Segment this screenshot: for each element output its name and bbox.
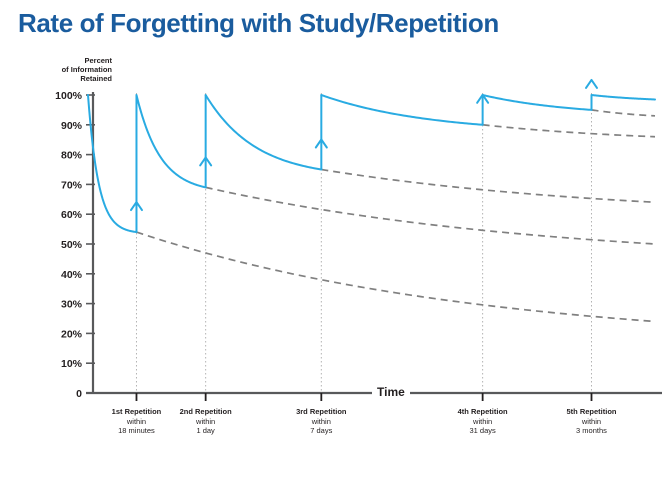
x-tick-label-interval: 3 months — [531, 426, 651, 436]
y-tick-label: 20% — [61, 328, 83, 340]
retention-curve-with-repetition — [88, 95, 655, 232]
x-tick-label: 5th Repetitionwithin3 months — [531, 407, 651, 436]
x-tick-label-repetition: 3rd Repetition — [261, 407, 381, 417]
forgetting-curves-without-repetition — [136, 110, 655, 322]
repetition-arrows — [131, 80, 597, 210]
y-tick-label: 70% — [61, 179, 83, 191]
retention-decay-segment — [206, 95, 322, 170]
x-axis-tick-marks — [136, 393, 591, 401]
x-tick-label: 3rd Repetitionwithin7 days — [261, 407, 381, 436]
dashed-forgetting-curve — [136, 232, 655, 321]
y-tick-label: 50% — [61, 239, 83, 251]
y-tick-label: 60% — [61, 209, 83, 221]
y-tick-label: 30% — [61, 299, 83, 311]
x-tick-label-within: within — [531, 417, 651, 427]
y-tick-label: 90% — [61, 120, 83, 132]
x-tick-label-repetition: 4th Repetition — [423, 407, 543, 417]
dashed-forgetting-curve — [206, 187, 655, 244]
dashed-forgetting-curve — [483, 125, 655, 137]
y-tick-label: 100% — [55, 90, 83, 102]
x-tick-label-interval: 1 day — [146, 426, 266, 436]
retention-decay-segment — [88, 95, 136, 232]
chart-axes — [86, 92, 662, 393]
x-axis-title: Time — [372, 385, 410, 399]
dashed-forgetting-curve — [592, 110, 656, 116]
x-tick-label: 2nd Repetitionwithin1 day — [146, 407, 266, 436]
x-tick-label-within: within — [423, 417, 543, 427]
retention-decay-segment — [321, 95, 482, 125]
y-tick-label: 40% — [61, 269, 83, 281]
dashed-forgetting-curve — [321, 170, 655, 203]
x-tick-label: 4th Repetitionwithin31 days — [423, 407, 543, 436]
repetition-arrow-icon — [586, 80, 597, 88]
y-tick-label: 10% — [61, 358, 83, 370]
x-tick-label-within: within — [146, 417, 266, 427]
retention-decay-segment — [136, 95, 205, 187]
x-tick-label-within: within — [261, 417, 381, 427]
retention-decay-segment — [483, 95, 592, 110]
x-tick-label-repetition: 5th Repetition — [531, 407, 651, 417]
y-axis-tick-labels: 100%90%80%70%60%50%40%30%20%10%0 — [55, 90, 83, 400]
x-tick-label-interval: 31 days — [423, 426, 543, 436]
y-tick-label: 0 — [76, 388, 82, 400]
y-tick-label: 80% — [61, 150, 83, 162]
x-tick-label-interval: 7 days — [261, 426, 381, 436]
x-tick-label-repetition: 2nd Repetition — [146, 407, 266, 417]
retention-decay-segment — [592, 95, 656, 99]
